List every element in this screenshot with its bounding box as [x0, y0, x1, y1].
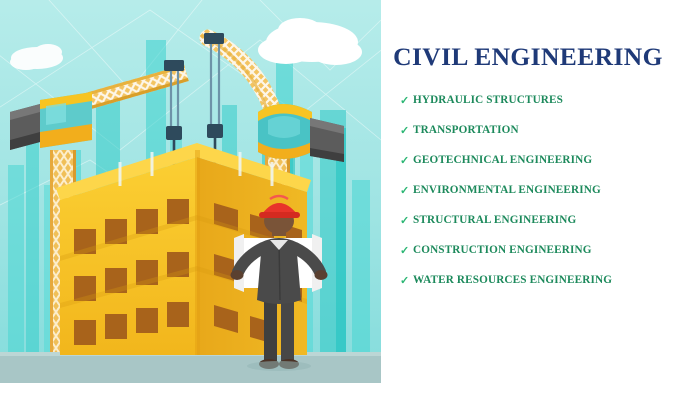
page-title: CIVIL ENGINEERING: [378, 42, 678, 72]
figure-shadow: [247, 361, 311, 371]
list-item: ✓ WATER RESOURCES ENGINEERING: [400, 275, 680, 305]
crane-hook-block-right: [207, 124, 223, 138]
list-item: ✓ CONSTRUCTION ENGINEERING: [400, 245, 680, 275]
check-icon: ✓: [400, 96, 413, 107]
check-icon: ✓: [400, 276, 413, 287]
topic-label: STRUCTURAL ENGINEERING: [413, 215, 576, 227]
check-icon: ✓: [400, 126, 413, 137]
crane-cab-right: [258, 104, 312, 159]
hand-right: [315, 270, 328, 280]
check-icon: ✓: [400, 246, 413, 257]
topic-label: HYDRAULIC STRUCTURES: [413, 95, 563, 107]
illustration-bottom-strip: [0, 383, 381, 409]
check-icon: ✓: [400, 156, 413, 167]
crane-counterweight-left: [10, 104, 40, 150]
crane-trolley-right: [204, 33, 224, 44]
topic-label: TRANSPORTATION: [413, 125, 519, 137]
hand-left: [231, 270, 244, 280]
topic-label: CONSTRUCTION ENGINEERING: [413, 245, 592, 257]
crane-trolley-left: [164, 60, 184, 71]
list-item: ✓ GEOTECHNICAL ENGINEERING: [400, 155, 680, 185]
list-item: ✓ ENVIRONMENTAL ENGINEERING: [400, 185, 680, 215]
crane-cab-left: [40, 92, 92, 148]
text-panel: CIVIL ENGINEERING ✓ HYDRAULIC STRUCTURES…: [381, 0, 680, 409]
topic-label: ENVIRONMENTAL ENGINEERING: [413, 185, 601, 197]
construction-illustration-panel: [0, 0, 381, 383]
topic-label: WATER RESOURCES ENGINEERING: [413, 275, 612, 287]
crane-hook-block-left: [166, 126, 182, 140]
topic-list: ✓ HYDRAULIC STRUCTURES ✓ TRANSPORTATION …: [400, 95, 680, 305]
topic-label: GEOTECHNICAL ENGINEERING: [413, 155, 592, 167]
construction-site-illustration: [0, 0, 381, 383]
list-item: ✓ STRUCTURAL ENGINEERING: [400, 215, 680, 245]
list-item: ✓ HYDRAULIC STRUCTURES: [400, 95, 680, 125]
check-icon: ✓: [400, 216, 413, 227]
check-icon: ✓: [400, 186, 413, 197]
list-item: ✓ TRANSPORTATION: [400, 125, 680, 155]
ground-plane: [0, 352, 381, 383]
